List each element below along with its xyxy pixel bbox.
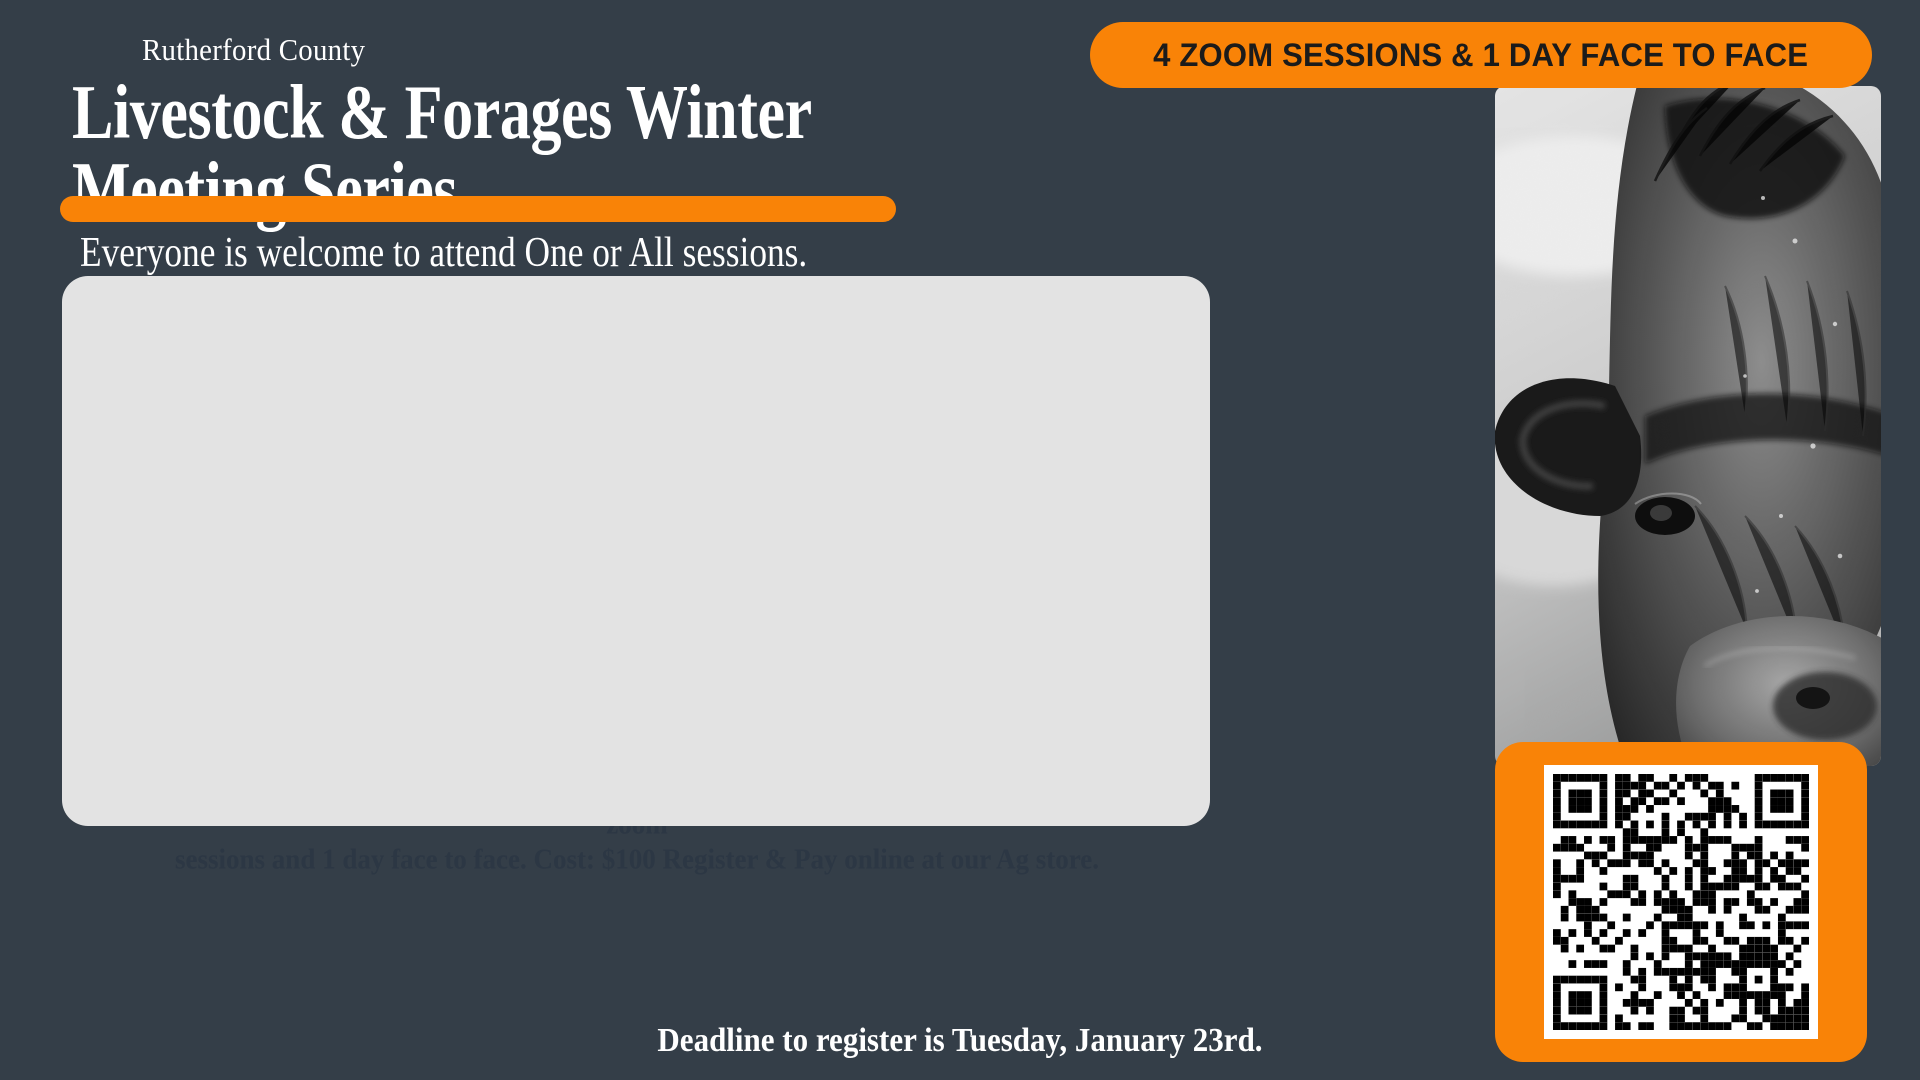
page-title-line-1: Livestock & Forages Winter	[72, 74, 972, 151]
certification-note-line-2: sessions and 1 day face to face. Cost: $…	[82, 842, 1192, 877]
county-eyebrow: Rutherford County	[142, 32, 365, 68]
welcome-subtitle: Everyone is welcome to attend One or All…	[80, 228, 807, 277]
content-card	[62, 276, 1210, 826]
qr-code-frame[interactable]	[1495, 742, 1867, 1062]
cow-photo	[1495, 86, 1881, 766]
qr-code-image	[1553, 774, 1809, 1030]
session-format-badge: 4 ZOOM SESSIONS & 1 DAY FACE TO FACE	[1090, 22, 1872, 88]
poster-canvas: 4 ZOOM SESSIONS & 1 DAY FACE TO FACE	[0, 0, 1920, 1080]
session-format-badge-label: 4 ZOOM SESSIONS & 1 DAY FACE TO FACE	[1154, 37, 1809, 74]
qr-code[interactable]	[1544, 765, 1818, 1039]
title-underline-bar	[60, 196, 896, 222]
